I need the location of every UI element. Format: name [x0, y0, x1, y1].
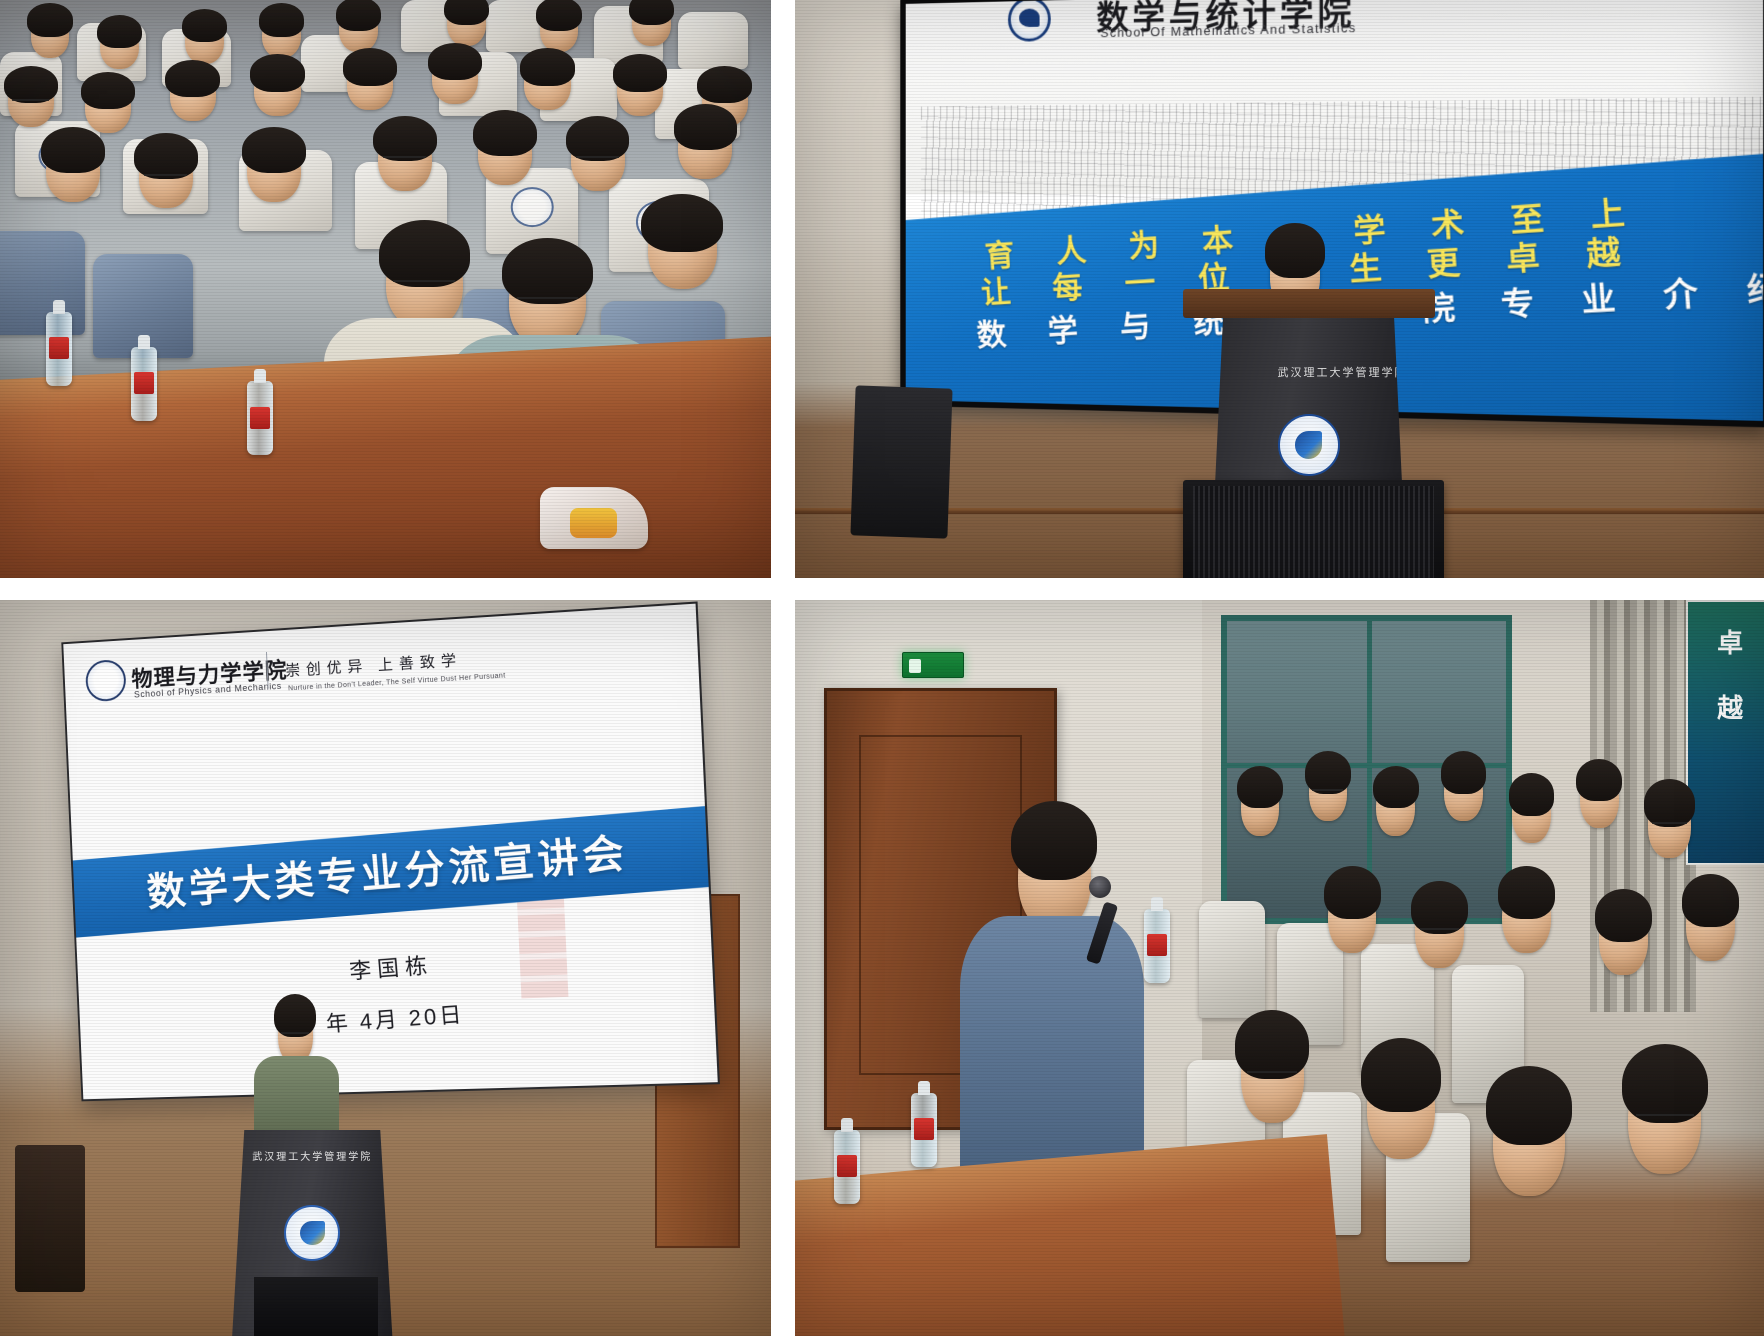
water-bottle: [46, 312, 72, 386]
audience-person: [447, 0, 486, 46]
audience-person: [1493, 1086, 1566, 1196]
audience-person: [170, 69, 216, 121]
university-emblem-icon: [1278, 414, 1340, 476]
audience-person: [1328, 880, 1376, 954]
audience-person: [1580, 769, 1619, 828]
audience-person: [1512, 784, 1551, 843]
projection-screen: 物理与力学学院 School of Physics and Mechanics …: [61, 602, 720, 1102]
audience-person: [378, 127, 432, 191]
audience-person: [100, 23, 139, 69]
audience-person: [1241, 1027, 1304, 1123]
water-bottle: [834, 1130, 860, 1204]
microphone-head-icon: [1089, 876, 1111, 898]
banner-char-2: 越: [1717, 688, 1743, 725]
exit-sign-icon: [902, 652, 964, 678]
audience-person: [185, 17, 224, 63]
lectern-top: [1183, 289, 1435, 318]
front-desk: [0, 334, 771, 578]
audience-person: [632, 0, 671, 46]
audience-person: [254, 64, 300, 116]
photo-top-right: 数学与统计学院 School Of Mathematics And Statis…: [795, 0, 1764, 578]
photo-bottom-right: 卓 越: [795, 600, 1764, 1336]
university-emblem-icon: [284, 1205, 340, 1261]
banner-char-1: 卓: [1717, 623, 1743, 660]
school-crest-icon: [85, 659, 127, 702]
photo-collage: 数学与统计学院 School Of Mathematics And Statis…: [0, 0, 1764, 1336]
audience-person: [339, 6, 378, 52]
front-row-person: [509, 254, 586, 346]
audience-person: [1502, 880, 1550, 954]
lectern-strip-text: 武汉理工大学管理学院: [1278, 364, 1352, 380]
audience-person: [524, 58, 570, 110]
audience-person: [432, 52, 478, 104]
photo-top-left: [0, 0, 771, 578]
water-bottle: [1144, 909, 1170, 983]
auditorium-audience-scene: [0, 0, 771, 578]
audience-person: [1599, 902, 1647, 976]
led-wall-stage-scene: 数学与统计学院 School Of Mathematics And Statis…: [795, 0, 1764, 578]
lectern-strip-text: 武汉理工大学管理学院: [252, 1148, 372, 1163]
front-row-person: [386, 237, 463, 329]
audience-person: [1415, 894, 1463, 968]
speaker-qa-scene: 卓 越: [795, 600, 1764, 1336]
projection-screen-scene: 物理与力学学院 School of Physics and Mechanics …: [0, 600, 771, 1336]
seat: [0, 231, 85, 335]
audience-person: [262, 12, 301, 58]
seat: [678, 12, 747, 70]
audience-person: [46, 139, 100, 203]
audience-person: [540, 6, 579, 52]
audience-person: [247, 139, 301, 203]
front-row-person: [648, 208, 717, 289]
audience-person: [1686, 887, 1734, 961]
audience-person: [1444, 762, 1483, 821]
audience-person: [478, 121, 532, 185]
water-bottle: [247, 381, 273, 455]
audience-person: [347, 58, 393, 110]
audience-person: [8, 75, 54, 127]
tote-bag: [540, 487, 648, 549]
audience-person: [1628, 1064, 1701, 1174]
water-bottle: [911, 1093, 937, 1167]
side-chair: [15, 1145, 84, 1292]
water-bottle: [131, 347, 157, 421]
audience-person: [1367, 1056, 1435, 1159]
audience-person: [139, 145, 193, 209]
slide-presenter-name: 李国栋: [347, 948, 433, 986]
audience-person: [31, 12, 70, 58]
audience-person: [1241, 777, 1280, 836]
audience-person: [1648, 791, 1692, 857]
stage-loudspeaker: [254, 1277, 377, 1336]
audience-person: [678, 116, 732, 180]
presenter-head: [278, 1005, 313, 1064]
audience-person: [617, 64, 663, 116]
seat-emblem-icon: [511, 188, 554, 228]
stage-loudspeaker: [1183, 480, 1445, 578]
stage-chair: [851, 386, 953, 540]
audience-person: [1376, 777, 1415, 836]
audience-person: [1309, 762, 1348, 821]
audience-person: [571, 127, 625, 191]
photo-bottom-left: 物理与力学学院 School of Physics and Mechanics …: [0, 600, 771, 1336]
speaker-head: [1018, 821, 1091, 931]
slide-date: 年 4月 20日: [325, 997, 466, 1039]
red-seal-watermark: [516, 887, 568, 998]
audience-person: [85, 81, 131, 133]
